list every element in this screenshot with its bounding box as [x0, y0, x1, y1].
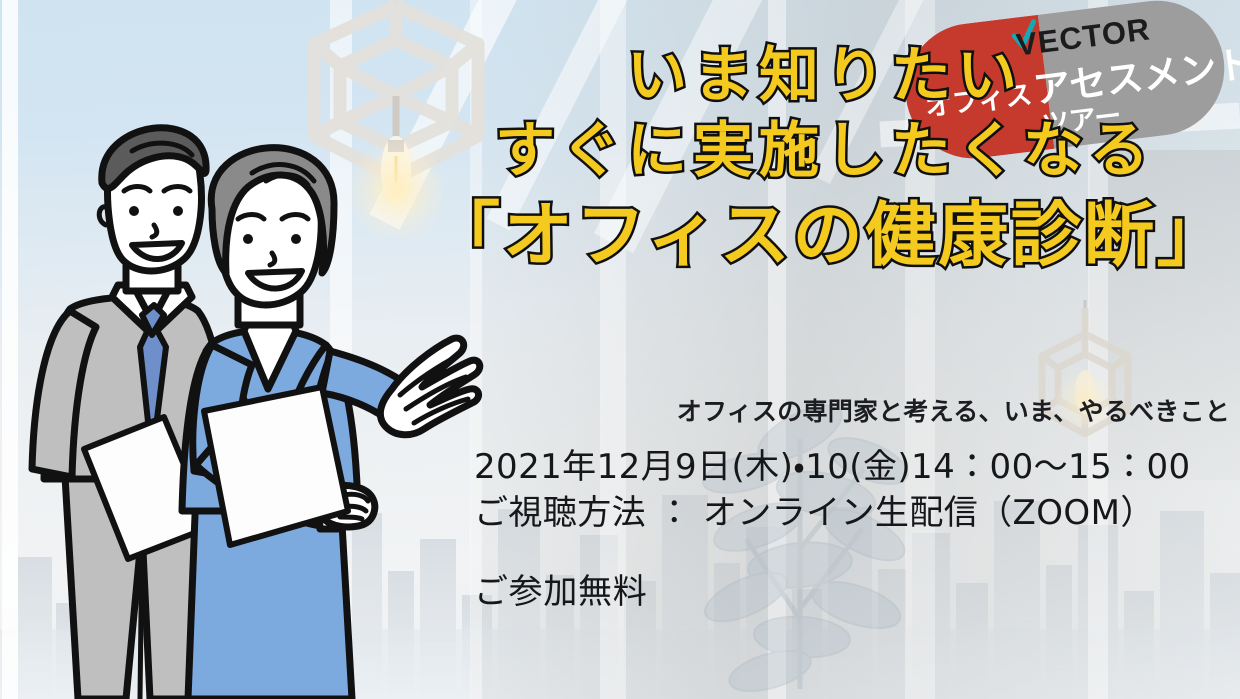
- subtitle: オフィスの専門家と考える、いま、やるべきこと: [440, 392, 1238, 428]
- event-fee: ご参加無料: [474, 564, 1234, 613]
- event-date: 2021年12月9日(木)・10(金)14：00～15：00: [474, 444, 1234, 490]
- event-details: 2021年12月9日(木)・10(金)14：00～15：00 ご視聴方法 ： オ…: [474, 444, 1234, 613]
- event-method: ご視聴方法 ： オンライン生配信（ZOOM）: [474, 490, 1234, 536]
- headline-line-2: すぐに実施したくなる: [430, 119, 1220, 184]
- headline-line-3: 「オフィスの健康診断」: [430, 198, 1220, 274]
- headline-line-1: いま知りたい: [430, 44, 1220, 109]
- webinar-promo-banner: .ln { fill:none; stroke:#111111; stroke-…: [0, 0, 1240, 699]
- headline-group: いま知りたい すぐに実施したくなる 「オフィスの健康診断」: [430, 44, 1220, 283]
- business-people-illustration: .ln { fill:none; stroke:#111111; stroke-…: [0, 59, 500, 699]
